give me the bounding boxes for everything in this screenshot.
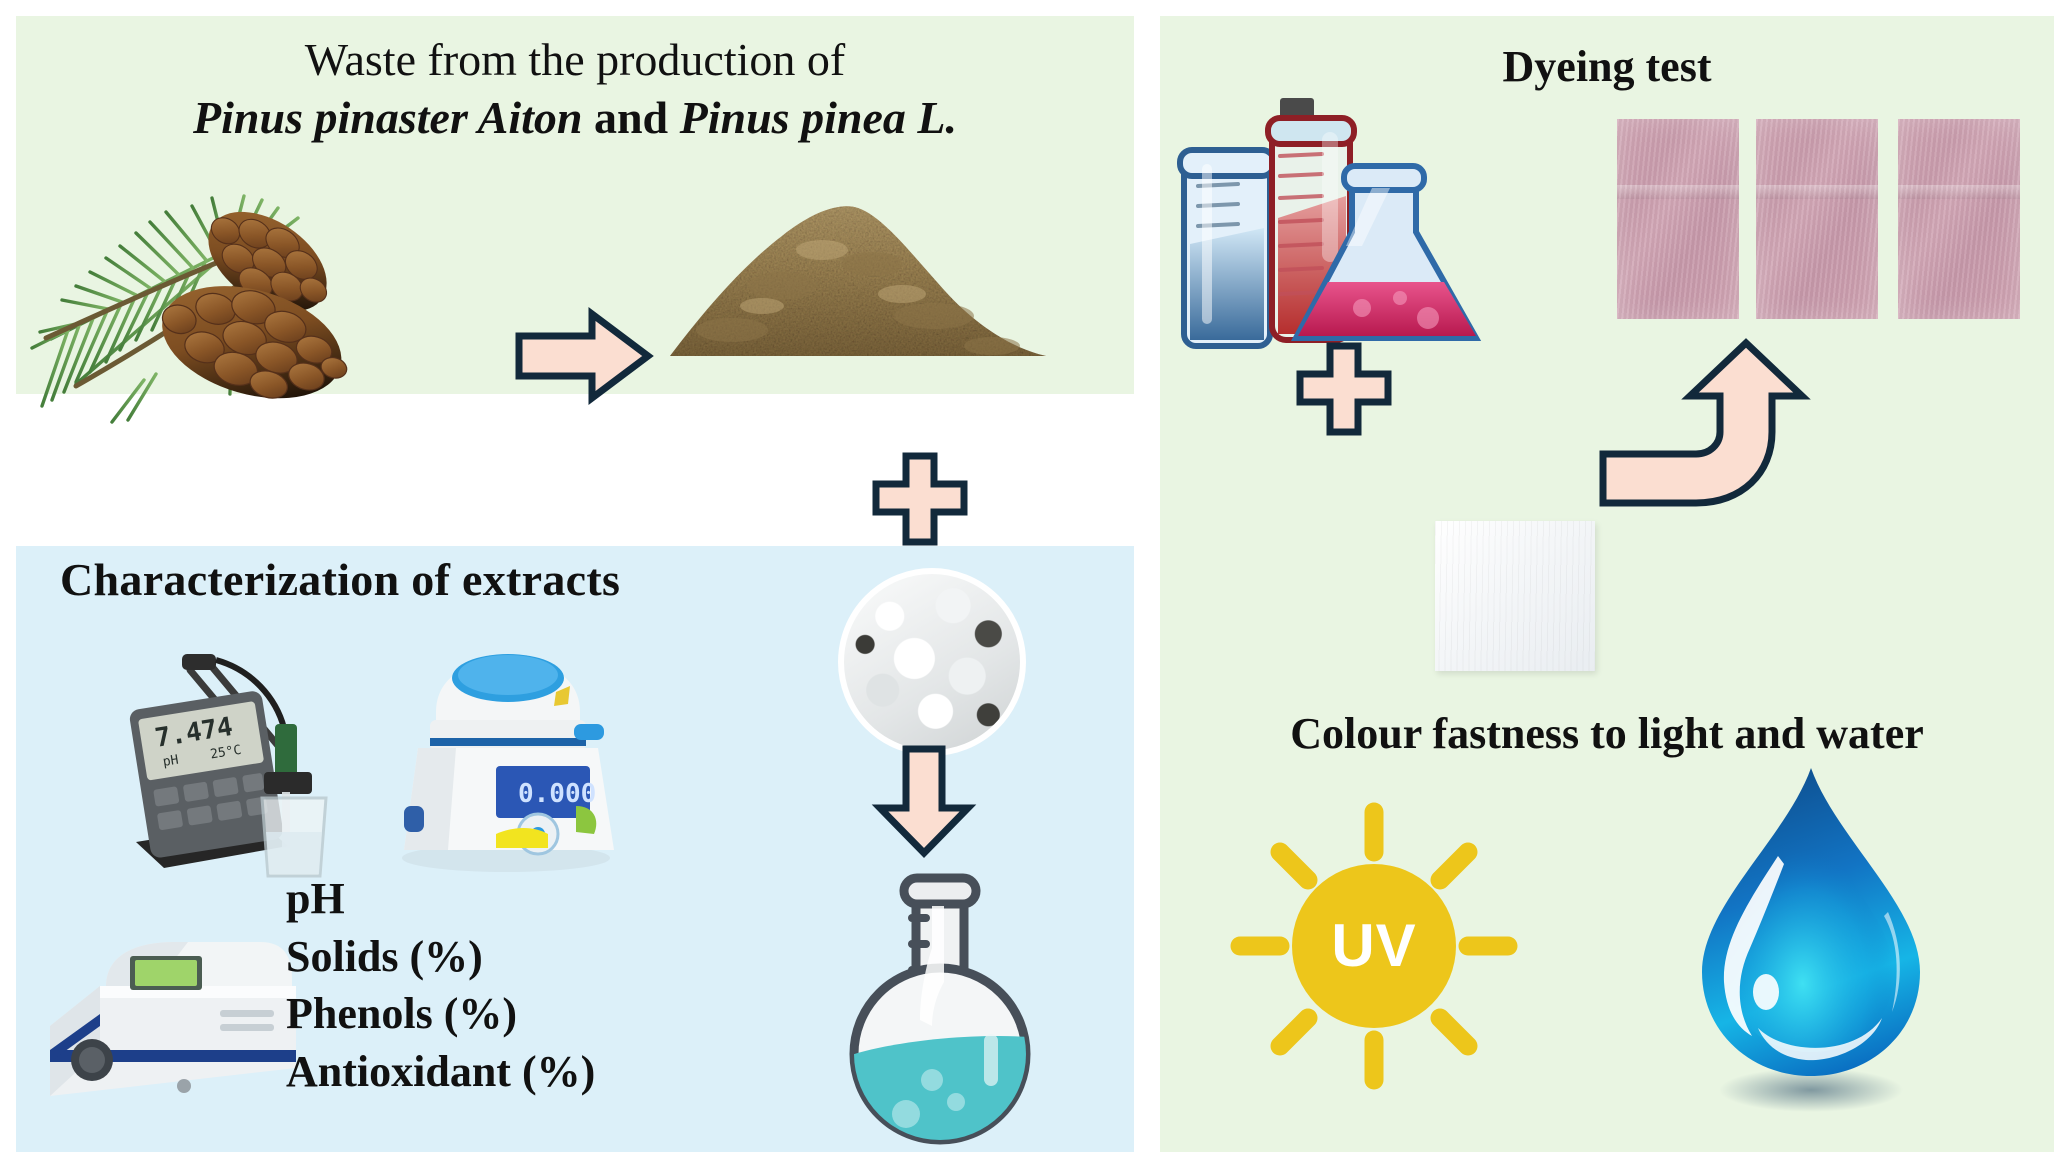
parameter-antioxidant: Antioxidant (%) (286, 1043, 595, 1101)
parameter-solids: Solids (%) (286, 928, 595, 986)
lab-glassware-image (1176, 46, 1496, 346)
plus-icon-right (1292, 340, 1396, 440)
waste-title-line1: Waste from the production of (16, 36, 1134, 85)
pine-bark-powder-image (662, 194, 1052, 362)
curved-up-arrow-icon (1600, 340, 1820, 520)
svg-text:pH: pH (162, 753, 180, 770)
parameter-ph: pH (286, 870, 595, 928)
characterization-title: Characterization of extracts (60, 556, 620, 605)
panel-waste-production: Waste from the production of Pinus pinas… (16, 16, 1134, 394)
right-arrow-icon (514, 308, 654, 404)
sun-uv-icon: UV (1234, 800, 1514, 1090)
dyed-fabric-swatch-3 (1898, 119, 2020, 319)
dyed-fabric-swatch-2 (1756, 119, 1878, 319)
svg-text:0.000: 0.000 (518, 779, 596, 809)
water-drop-icon (1666, 760, 1956, 1120)
parameter-phenols: Phenols (%) (286, 985, 595, 1043)
ph-meter-instrument-image: 7.474 pH 25°C (112, 636, 412, 886)
moisture-analyzer-image: 0.000 (378, 620, 638, 880)
colour-fastness-title: Colour fastness to light and water (1160, 711, 2054, 758)
sodium-hydroxide-flakes-image (838, 568, 1026, 756)
pine-cones-branch-image (16, 134, 516, 424)
species-name-pinea: Pinus pinea L. (680, 92, 957, 143)
extract-flask-image (832, 862, 1048, 1148)
parameter-list: pH Solids (%) Phenols (%) Antioxidant (%… (286, 870, 595, 1101)
down-arrow-icon (872, 744, 976, 858)
dyed-fabric-swatch-1 (1617, 119, 1739, 319)
conjunction: and (582, 92, 679, 143)
undyed-white-fabric-swatch (1435, 521, 1595, 671)
plus-icon-left (868, 450, 972, 550)
